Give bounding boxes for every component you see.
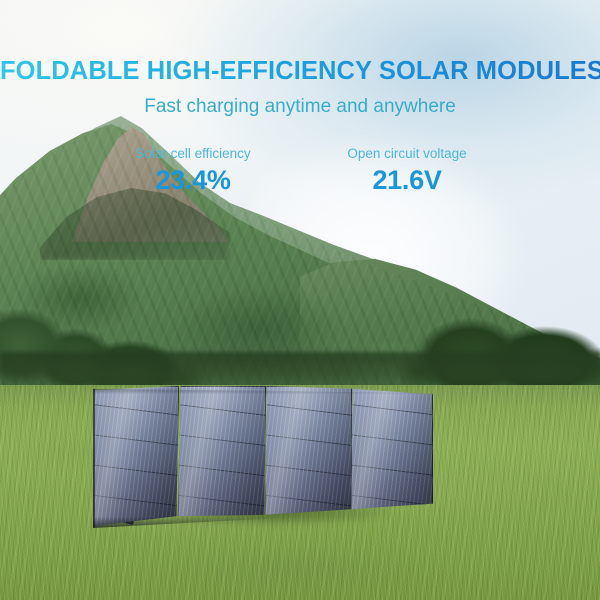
stat-label: Solar cell efficiency: [108, 144, 278, 164]
text-overlay: FOLDABLE HIGH-EFFICIENCY SOLAR MODULES F…: [0, 0, 600, 600]
headline: FOLDABLE HIGH-EFFICIENCY SOLAR MODULES: [0, 57, 600, 86]
product-banner: FOLDABLE HIGH-EFFICIENCY SOLAR MODULES F…: [0, 0, 600, 600]
subheadline: Fast charging anytime and anywhere: [0, 96, 600, 118]
stat-value: 23.4%: [108, 164, 278, 196]
stat-open-circuit-voltage: Open circuit voltage 21.6V: [322, 144, 492, 196]
stat-label: Open circuit voltage: [322, 144, 492, 164]
stat-value: 21.6V: [322, 164, 492, 196]
spec-stats: Solar cell efficiency 23.4% Open circuit…: [0, 144, 600, 196]
stat-solar-cell-efficiency: Solar cell efficiency 23.4%: [108, 144, 278, 196]
